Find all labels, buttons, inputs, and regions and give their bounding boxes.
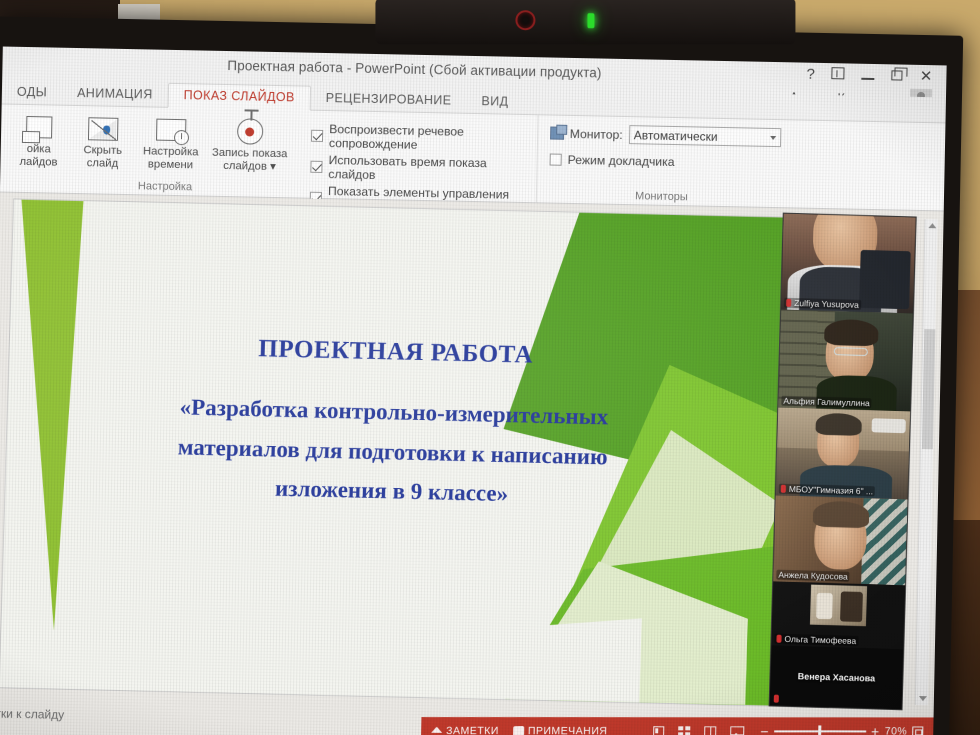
powerpoint-window: Проектная работа - PowerPoint (Сбой акти… [0,47,947,735]
slide-text-block[interactable]: ПРОЕКТНАЯ РАБОТА «Разработка контрольно-… [101,332,686,518]
participant-name: Zulfiya Yusupova [784,298,861,310]
record-slideshow-icon [237,115,264,148]
monitor-row: Монитор: Автоматически [550,124,781,148]
monitor-select-value: Автоматически [634,128,718,144]
monitor-select[interactable]: Автоматически [629,125,782,147]
zoom-out-button[interactable]: − [760,724,769,735]
hide-slide-label-1: Скрыть [83,144,122,157]
hide-slide-icon [88,112,119,145]
reading-view-icon [704,726,716,735]
video-conference-panel[interactable]: Zulfiya Yusupova Альфия Галимуллина [770,214,916,710]
ribbon-group-setup: ойка лайдов Скрыть слайд Настройка [0,105,538,203]
slide-canvas-area: ПРОЕКТНАЯ РАБОТА «Разработка контрольно-… [0,192,944,713]
hide-slide-button[interactable]: Скрыть слайд [70,110,135,171]
monitor-label: Монитор: [570,126,623,141]
tab-slideshow[interactable]: ПОКАЗ СЛАЙДОВ [167,83,311,111]
use-timings-label: Использовать время показа слайдов [328,153,531,185]
slide-show-icon [730,726,742,735]
view-normal-button[interactable] [653,726,664,735]
video-tile[interactable]: МБОУ"Гимназия 6" ... [776,408,910,500]
scroll-down-icon[interactable] [919,696,927,701]
play-narrations-label: Воспроизвести речевое сопровождение [329,122,532,154]
zoom-slider[interactable] [774,730,866,732]
checkbox-play-narrations[interactable]: Воспроизвести речевое сопровождение [311,122,532,154]
window-controls: ? ✕ [806,67,932,85]
scrollbar-thumb[interactable] [922,329,935,449]
video-tile[interactable]: Венера Хасанова [770,645,904,709]
fit-slide-to-window-icon[interactable] [912,726,923,735]
restore-icon[interactable] [892,68,903,83]
monitor-screen: Проектная работа - PowerPoint (Сбой акти… [0,47,947,735]
video-tile[interactable]: Ольга Тимофеева [771,582,905,650]
view-reading-button[interactable] [704,726,716,735]
view-slideshow-button[interactable] [730,726,742,735]
presenter-view-checkbox-icon[interactable] [550,154,562,166]
ribbon-display-options-icon[interactable] [832,67,845,82]
rehearse-timings-label-2: времени [148,158,193,172]
scroll-up-icon[interactable] [928,223,936,228]
status-left-text: тки к слайду [0,707,64,722]
checkbox-use-timings[interactable]: Использовать время показа слайдов [310,153,531,185]
group-label-monitors: Мониторы [537,188,786,205]
video-tile[interactable]: Альфия Галимуллина [778,310,913,412]
participant-name: Венера Хасанова [770,671,902,685]
play-narrations-checkbox-icon[interactable] [311,130,323,142]
webcam-status-led-icon [587,13,594,28]
use-timings-checkbox-icon[interactable] [310,161,322,173]
notes-icon [431,727,442,735]
presenter-view-label: Режим докладчика [568,153,675,169]
setup-slideshow-label-1: ойка [27,143,51,156]
external-webcam [375,0,795,44]
rehearse-timings-button[interactable]: Настройка времени [134,111,207,172]
tab-transitions[interactable]: ОДЫ [2,81,63,105]
monitor-icon [550,127,564,140]
minimize-icon[interactable] [862,68,875,83]
video-tile[interactable]: Анжела Кудосова [773,496,907,586]
zoom-control[interactable]: − + 70% [760,724,923,735]
hide-slide-label-2: слайд [87,157,119,170]
slide-sorter-icon [678,726,690,735]
comments-button[interactable]: ПРИМЕЧАНИЯ [513,725,608,735]
mic-muted-icon [776,635,781,643]
rehearse-timings-icon [156,114,187,147]
view-sorter-button[interactable] [678,726,690,735]
zoom-slider-thumb[interactable] [818,725,821,735]
setup-show-icon [26,111,53,144]
record-slideshow-button[interactable]: Запись показа слайдов ▾ [206,113,293,174]
help-icon[interactable]: ? [806,67,815,82]
chevron-down-icon[interactable] [770,135,776,139]
mic-muted-icon [786,299,791,307]
notes-label: ЗАМЕТКИ [446,725,499,735]
vertical-scrollbar[interactable] [915,219,938,705]
participant-name: Ольга Тимофеева [774,634,858,646]
rehearse-timings-label-1: Настройка [143,145,199,159]
decor-green-wedge-left [21,200,115,632]
tab-view[interactable]: ВИД [466,90,523,114]
setup-slideshow-label-2: лайдов [19,156,57,169]
monitor-bezel: Проектная работа - PowerPoint (Сбой акти… [0,16,963,735]
zoom-in-button[interactable]: + [871,724,880,735]
tab-animations[interactable]: АНИМАЦИЯ [62,82,168,107]
setup-slideshow-button[interactable]: ойка лайдов [6,109,71,170]
slide-surface[interactable]: ПРОЕКТНАЯ РАБОТА «Разработка контрольно-… [0,199,800,705]
participant-name: Анжела Кудосова [776,570,850,582]
comment-icon [513,726,524,735]
comments-label: ПРИМЕЧАНИЯ [528,725,608,735]
ribbon-group-monitors: Монитор: Автоматически Режим докладчика … [536,115,788,207]
zoom-percent: 70% [885,725,908,735]
checkbox-presenter-view[interactable]: Режим докладчика [550,153,781,172]
mic-muted-icon [774,695,779,703]
mic-muted-icon [781,485,786,493]
close-icon[interactable]: ✕ [920,69,933,84]
participant-name: МБОУ"Гимназия 6" ... [779,484,875,497]
normal-view-icon [653,726,664,735]
tab-review[interactable]: РЕЦЕНЗИРОВАНИЕ [310,87,466,113]
webcam-lens-icon [515,10,535,30]
video-tile[interactable]: Zulfiya Yusupova [781,214,916,314]
notes-button[interactable]: ЗАМЕТКИ [431,725,499,735]
record-slideshow-label-2: слайдов ▾ [223,160,276,174]
status-bar-red-strip: ЗАМЕТКИ ПРИМЕЧАНИЯ [421,717,934,735]
